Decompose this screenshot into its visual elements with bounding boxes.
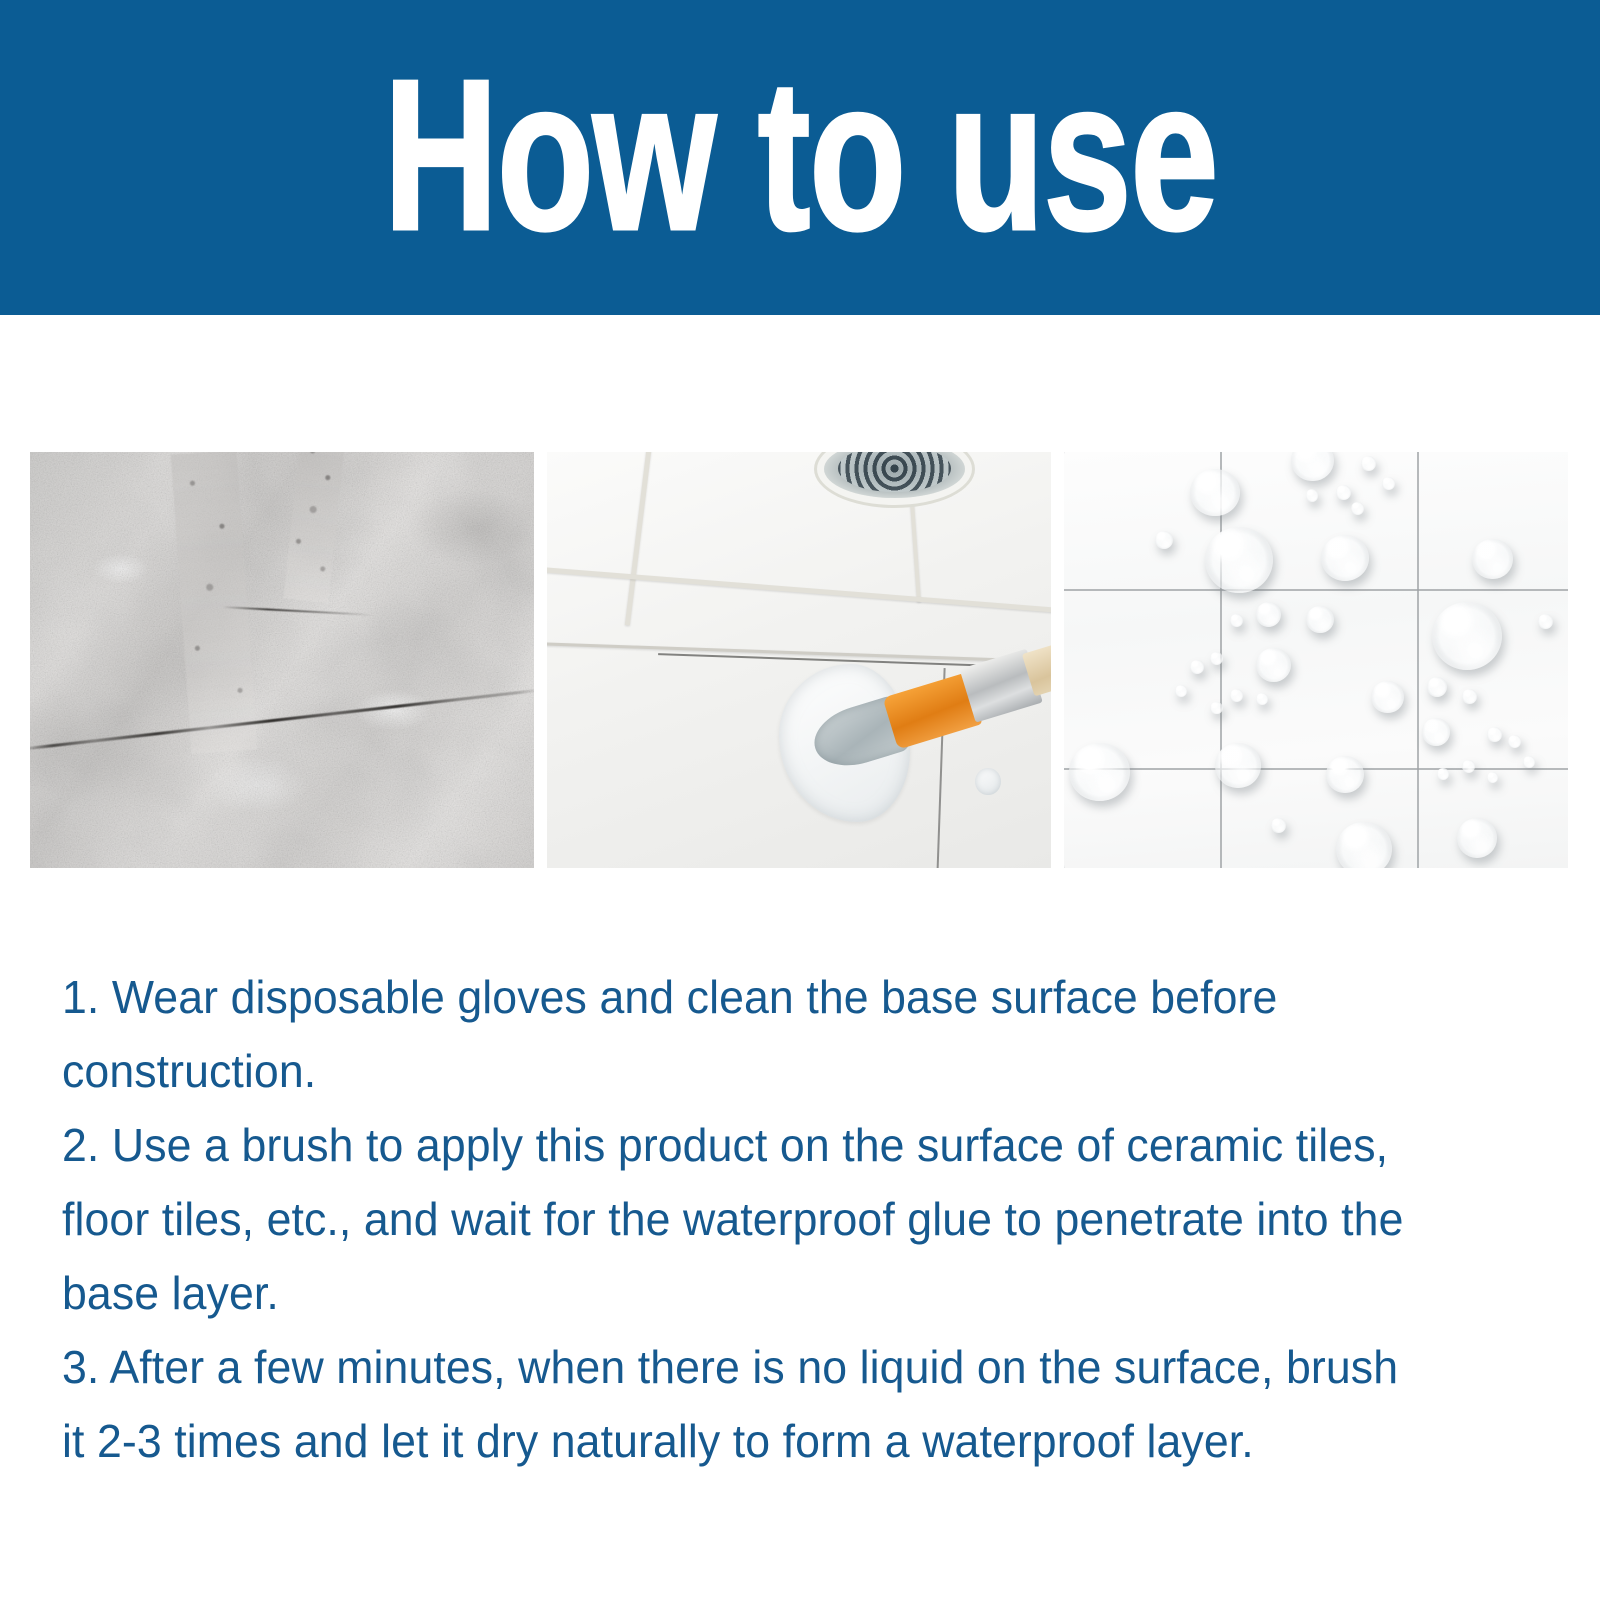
concrete-grain-overlay bbox=[30, 452, 534, 868]
water-bead bbox=[1205, 527, 1273, 594]
water-bead bbox=[1210, 652, 1223, 665]
instruction-line: 1. Wear disposable gloves and clean the … bbox=[62, 960, 1498, 1034]
marble-tile-surface bbox=[1064, 452, 1568, 868]
water-bead bbox=[1523, 756, 1535, 768]
water-bead bbox=[1069, 743, 1129, 801]
instruction-line: it 2-3 times and let it dry naturally to… bbox=[62, 1404, 1498, 1478]
water-bead bbox=[1538, 614, 1553, 629]
instruction-line: construction. bbox=[62, 1034, 1498, 1108]
water-bead bbox=[1256, 693, 1268, 705]
water-bead bbox=[1215, 743, 1260, 788]
water-bead bbox=[1326, 756, 1364, 793]
product-instruction-page: How to use bbox=[0, 0, 1600, 1600]
page-title: How to use bbox=[383, 56, 1217, 254]
water-bead bbox=[1155, 531, 1173, 549]
water-bead bbox=[1306, 606, 1334, 633]
water-bead bbox=[1472, 539, 1512, 579]
water-bead bbox=[1190, 660, 1204, 674]
water-bead bbox=[1256, 602, 1281, 627]
instructions-block: 1. Wear disposable gloves and clean the … bbox=[62, 960, 1542, 1478]
instruction-line: base layer. bbox=[62, 1256, 1498, 1330]
water-bead bbox=[1457, 818, 1497, 858]
water-bead bbox=[1321, 535, 1369, 581]
tile-grid-line-h1 bbox=[1064, 589, 1568, 591]
water-bead bbox=[1256, 648, 1291, 683]
instruction-line: floor tiles, etc., and wait for the wate… bbox=[62, 1182, 1498, 1256]
water-bead bbox=[1336, 822, 1391, 868]
tile-grid-line-h2 bbox=[1064, 768, 1568, 770]
instruction-line: 3. After a few minutes, when there is no… bbox=[62, 1330, 1498, 1404]
header-banner: How to use bbox=[0, 0, 1600, 315]
instruction-line: 2. Use a brush to apply this product on … bbox=[62, 1108, 1498, 1182]
water-bead bbox=[1508, 735, 1521, 748]
image-gallery bbox=[30, 452, 1568, 868]
photo-panel-cracked-concrete bbox=[30, 452, 534, 868]
water-bead bbox=[1382, 477, 1395, 490]
water-bead bbox=[1271, 818, 1286, 833]
water-bead bbox=[1462, 760, 1475, 773]
water-bead bbox=[1422, 718, 1450, 745]
photo-panel-water-beading bbox=[1064, 452, 1568, 868]
tile-grid-line-v2 bbox=[1417, 452, 1419, 868]
water-bead bbox=[1306, 489, 1318, 501]
water-bead bbox=[1487, 727, 1502, 742]
water-bead bbox=[1427, 677, 1447, 697]
water-bead bbox=[1175, 685, 1187, 697]
photo-panel-brush-application bbox=[547, 452, 1051, 868]
